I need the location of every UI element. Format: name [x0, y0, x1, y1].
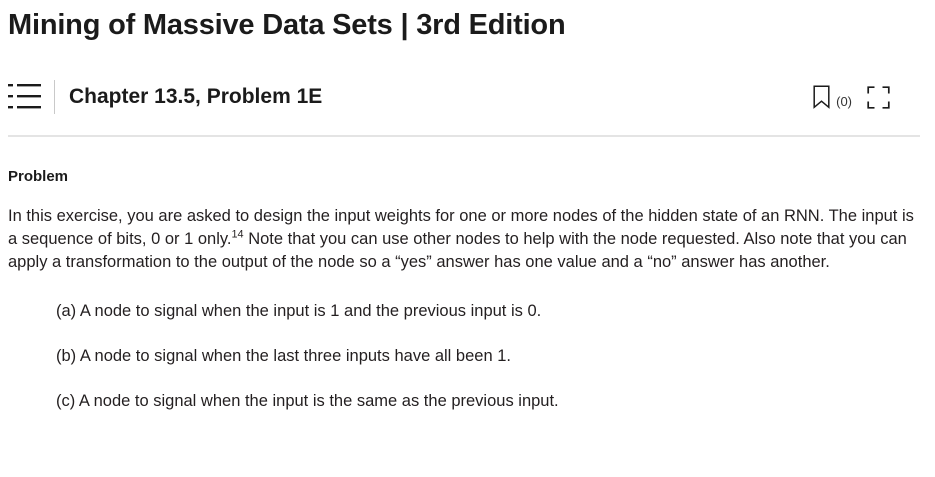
list-item: (b) A node to signal when the last three… — [56, 345, 927, 368]
problem-sub-items: (a) A node to signal when the input is 1… — [8, 300, 927, 413]
chapter-header-bar: Chapter 13.5, Problem 1E (0) — [8, 67, 927, 127]
header-vertical-separator — [54, 80, 55, 114]
section-heading-problem: Problem — [8, 168, 927, 185]
header-actions: (0) — [813, 85, 927, 109]
list-item: (c) A node to signal when the input is t… — [56, 390, 927, 413]
problem-page: Mining of Massive Data Sets | 3rd Editio… — [0, 0, 935, 477]
header-divider — [8, 135, 920, 137]
footnote-marker: 14 — [232, 229, 244, 241]
chapter-title: Chapter 13.5, Problem 1E — [69, 85, 813, 109]
list-item: (a) A node to signal when the input is 1… — [56, 300, 927, 323]
list-icon[interactable] — [8, 82, 54, 112]
expand-icon[interactable] — [861, 86, 890, 109]
bookmark-icon[interactable] — [813, 85, 830, 109]
problem-paragraph: In this exercise, you are asked to desig… — [8, 205, 927, 274]
bookmark-count: (0) — [836, 95, 852, 108]
book-title: Mining of Massive Data Sets | 3rd Editio… — [8, 0, 927, 42]
